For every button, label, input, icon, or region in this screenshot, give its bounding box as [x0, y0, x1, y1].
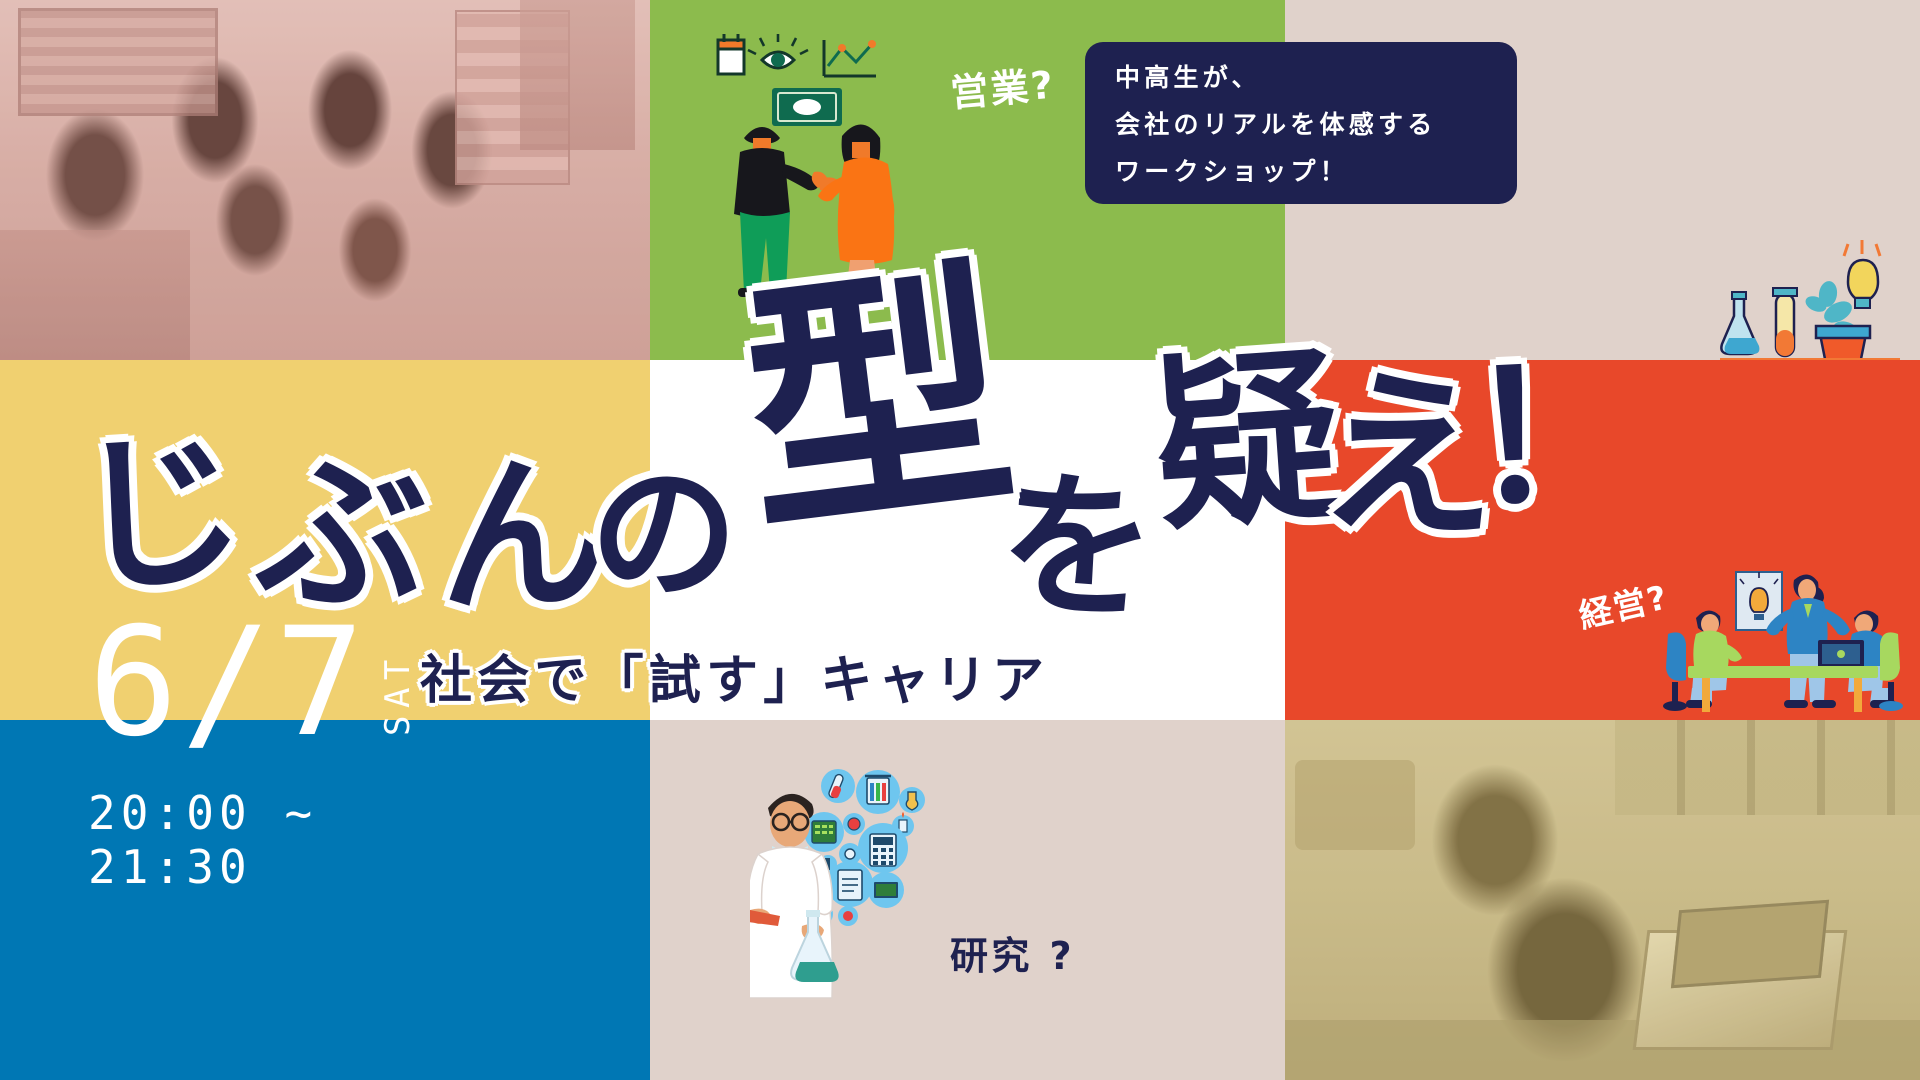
sales-illustration	[700, 30, 930, 300]
info-card-line-3: ワークショップ！	[1115, 152, 1487, 188]
cell-management: 経営?	[1285, 360, 1920, 720]
poster-canvas: 営業?	[0, 0, 1920, 1080]
event-date: 6/7	[88, 620, 368, 748]
event-time: 20:00 ~ 21:30	[88, 786, 508, 894]
info-card: 中高生が、 会社のリアルを体感する ワークショップ！	[1085, 42, 1517, 204]
poster-grid: 営業?	[0, 0, 1920, 1080]
cell-research: 研究 ?	[650, 720, 1285, 1080]
cell-photo-classroom	[0, 0, 650, 360]
event-day-of-week: SAT	[378, 650, 418, 736]
photo-classroom	[0, 0, 650, 360]
cell-photo-workshop	[1285, 720, 1920, 1080]
info-card-line-2: 会社のリアルを体感する	[1115, 105, 1487, 141]
photo-classroom-duotone-overlay	[0, 0, 650, 360]
info-card-line-1: 中高生が、	[1115, 58, 1487, 94]
meeting-illustration	[1658, 566, 1908, 716]
tag-research: 研究 ?	[950, 925, 1075, 980]
tag-sales: 営業?	[948, 54, 1057, 118]
lab-doodle-illustration	[1720, 238, 1900, 360]
photo-workshop	[1285, 720, 1920, 1080]
poster-subtitle: 社会で「試す」キャリア	[420, 638, 1049, 713]
photo-workshop-duotone-overlay	[1285, 720, 1920, 1080]
